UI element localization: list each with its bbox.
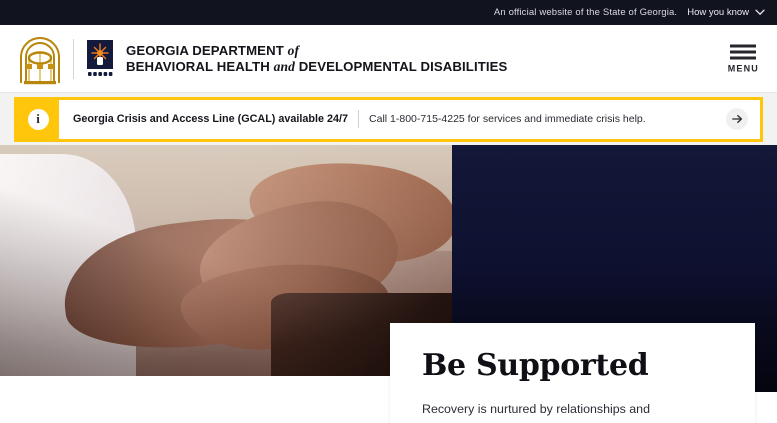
alert-message: Call 1-800-715-4225 for services and imm…: [369, 113, 646, 125]
chevron-down-icon: [755, 9, 765, 16]
agency-title-of: of: [288, 43, 299, 58]
page-root: An official website of the State of Geor…: [0, 0, 777, 423]
agency-title[interactable]: GEORGIA DEPARTMENT of BEHAVIORAL HEALTH …: [126, 43, 507, 74]
state-notice-bar: An official website of the State of Geor…: [0, 0, 777, 25]
header-divider: [73, 39, 74, 79]
agency-title-line-2: BEHAVIORAL HEALTH and DEVELOPMENTAL DISA…: [126, 59, 507, 75]
dbhdd-logo-icon[interactable]: [86, 40, 114, 78]
alert-arrow-button[interactable]: [726, 108, 748, 130]
agency-title-part-2: BEHAVIORAL HEALTH: [126, 59, 270, 74]
alert-separator: [358, 110, 359, 128]
how-you-know-label: How you know: [687, 7, 749, 18]
alert-banner-region: i Georgia Crisis and Access Line (GCAL) …: [0, 93, 777, 145]
agency-title-line-1: GEORGIA DEPARTMENT of: [126, 43, 507, 59]
hero-title: Be Supported: [422, 351, 723, 381]
site-header: GEORGIA DEPARTMENT of BEHAVIORAL HEALTH …: [0, 25, 777, 93]
alert-icon-column: i: [17, 100, 59, 139]
menu-button-label: MENU: [728, 63, 759, 73]
hero-card[interactable]: Be Supported Recovery is nurtured by rel…: [390, 323, 755, 423]
state-notice-text: An official website of the State of Geor…: [494, 7, 677, 18]
alert-headline: Georgia Crisis and Access Line (GCAL) av…: [73, 113, 348, 125]
crisis-alert-banner[interactable]: i Georgia Crisis and Access Line (GCAL) …: [14, 97, 763, 142]
menu-button[interactable]: MENU: [728, 44, 759, 73]
caring-hands-photo: [0, 145, 452, 376]
hero-description: Recovery is nurtured by relationships an…: [422, 399, 712, 423]
agency-title-part-1: GEORGIA DEPARTMENT: [126, 43, 284, 58]
georgia-state-seal-icon[interactable]: [15, 31, 65, 87]
agency-title-and: and: [274, 59, 295, 74]
hamburger-menu-icon: [730, 44, 756, 59]
agency-title-part-3: DEVELOPMENTAL DISABILITIES: [299, 59, 508, 74]
arrow-right-icon: [732, 114, 743, 124]
how-you-know-toggle[interactable]: How you know: [687, 7, 765, 18]
alert-content: Georgia Crisis and Access Line (GCAL) av…: [59, 100, 760, 139]
hero-section: Be Supported Recovery is nurtured by rel…: [0, 145, 777, 423]
info-icon: i: [28, 109, 49, 130]
